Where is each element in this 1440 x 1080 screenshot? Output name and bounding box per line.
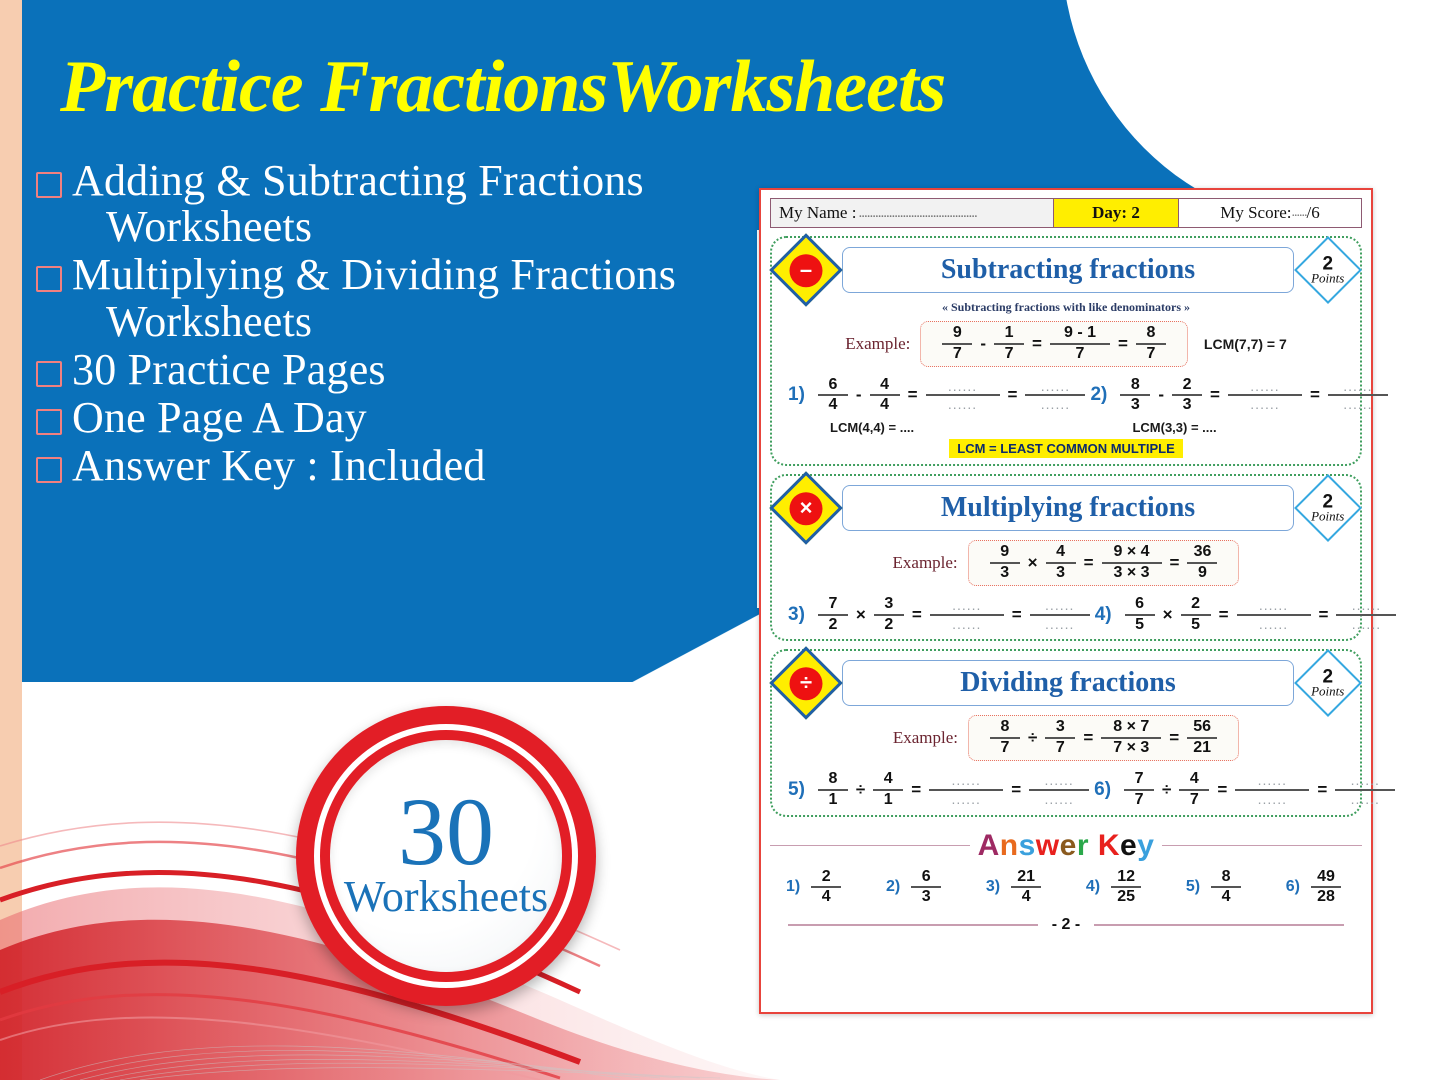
equals-sign: = xyxy=(912,605,922,625)
blank-denominator[interactable]: ...... xyxy=(948,397,977,412)
denominator: 7 × 3 xyxy=(1113,740,1149,757)
denominator: 28 xyxy=(1317,889,1335,906)
answer-blank-fraction: ............ xyxy=(1336,598,1396,631)
fraction: 214 xyxy=(1011,869,1041,907)
answer-key-letter: y xyxy=(1137,829,1154,862)
checkbox-bullet-icon xyxy=(36,457,62,483)
fraction: 97 xyxy=(942,325,972,363)
answer-blank-fraction: ............ xyxy=(1237,598,1311,631)
problem-1[interactable]: 1) 64 - 44 = ............ = ............… xyxy=(788,377,1090,436)
denominator: 4 xyxy=(828,397,837,414)
example-row: Example: 87 ÷ 37 = 8 × 77 × 3 = 5621 xyxy=(774,715,1358,761)
fraction: 81 xyxy=(818,771,848,809)
example-expression: 87 ÷ 37 = 8 × 77 × 3 = 5621 xyxy=(968,715,1239,761)
denominator: 1 xyxy=(884,792,893,809)
score-dotted-line: ...... xyxy=(1292,205,1307,221)
points-badge: 2 Points xyxy=(1294,236,1362,304)
section-header: ÷ Dividing fractions 2 Points xyxy=(774,657,1358,709)
equals-sign: = xyxy=(1169,728,1179,748)
answer-key-item: 2)63 xyxy=(886,869,946,907)
answer-key-item: 3)214 xyxy=(986,869,1046,907)
numerator: 7 xyxy=(1135,771,1144,788)
numerator: 2 xyxy=(1191,596,1200,613)
denominator: 25 xyxy=(1117,889,1135,906)
operator: ÷ xyxy=(1162,780,1171,800)
fraction: 9 - 17 xyxy=(1050,325,1110,363)
denominator: 7 xyxy=(1001,740,1010,757)
answer-key-title-row: Answer Key xyxy=(770,829,1362,863)
denominator: 7 xyxy=(1135,792,1144,809)
problem-row: 5) 81 ÷ 41 = ............ = ............… xyxy=(774,771,1358,809)
problem-lcm-prompt[interactable]: LCM(4,4) = .... xyxy=(830,420,1090,435)
numerator: 7 xyxy=(828,596,837,613)
equals-sign: = xyxy=(1217,780,1227,800)
equals-sign: = xyxy=(1084,553,1094,573)
numerator: 2 xyxy=(822,869,831,886)
worksheet-count-badge: 30 Worksheets xyxy=(296,706,596,1006)
section-subcaption: « Subtracting fractions with like denomi… xyxy=(774,300,1358,315)
points-label: Points xyxy=(1311,510,1344,523)
answer-key-letter: s xyxy=(1019,829,1036,862)
problem-number: 4) xyxy=(1095,604,1112,626)
operator: × xyxy=(1163,605,1173,625)
denominator: 4 xyxy=(1222,889,1231,906)
numerator: 12 xyxy=(1117,869,1135,886)
equals-sign: = xyxy=(1008,385,1018,405)
answer-number: 6) xyxy=(1286,878,1300,896)
list-item: Answer Key : Included xyxy=(36,443,776,489)
list-item: 30 Practice Pages xyxy=(36,347,776,393)
problem-row: 1) 64 - 44 = ............ = ............… xyxy=(774,377,1358,436)
answer-blank-fraction: ............ xyxy=(1025,379,1085,412)
answer-key-letter: K xyxy=(1098,829,1120,862)
example-expression: 93 × 43 = 9 × 43 × 3 = 369 xyxy=(968,540,1240,586)
problem-row: 3) 72 × 32 = ............ = ............… xyxy=(774,596,1358,634)
equals-sign: = xyxy=(1170,553,1180,573)
divide-icon: ÷ xyxy=(769,647,843,721)
blank-numerator[interactable]: ...... xyxy=(1351,773,1380,788)
numerator: 4 xyxy=(1056,544,1065,561)
fraction: 32 xyxy=(874,596,904,634)
checkbox-bullet-icon xyxy=(36,409,62,435)
answer-key-item: 6)4928 xyxy=(1286,869,1346,907)
blank-denominator[interactable]: ...... xyxy=(1250,397,1279,412)
blank-numerator[interactable]: ...... xyxy=(952,598,981,613)
fraction: 8 × 77 × 3 xyxy=(1101,719,1161,757)
fraction: 17 xyxy=(994,325,1024,363)
fraction: 23 xyxy=(1172,377,1202,415)
blank-denominator[interactable]: ...... xyxy=(1259,617,1288,632)
slide-canvas: Practice FractionsWorksheets Adding & Su… xyxy=(0,0,1440,1080)
footer-line-right xyxy=(1094,924,1344,926)
worksheet-preview-card: My Name : ..............................… xyxy=(759,188,1373,1014)
answer-key-item: 5)84 xyxy=(1186,869,1246,907)
worksheet-footer: - 2 - xyxy=(770,916,1362,934)
multiply-glyph: × xyxy=(790,492,823,525)
answer-key-letter: n xyxy=(1000,829,1019,862)
denominator: 3 xyxy=(1000,565,1009,582)
bullet-line-2: Worksheets xyxy=(72,299,676,345)
equals-sign: = xyxy=(1032,334,1042,354)
numerator: 2 xyxy=(1183,377,1192,394)
divider-right xyxy=(1162,845,1362,847)
blank-numerator[interactable]: ...... xyxy=(1250,379,1279,394)
problem-4[interactable]: 4) 65 × 25 = ............ = ............ xyxy=(1095,596,1402,634)
example-label: Example: xyxy=(845,334,910,354)
equals-sign: = xyxy=(1083,728,1093,748)
denominator: 3 xyxy=(1056,565,1065,582)
numerator: 8 xyxy=(1146,325,1155,342)
equals-sign: = xyxy=(1118,334,1128,354)
equals-sign: = xyxy=(1012,605,1022,625)
fraction: 25 xyxy=(1181,596,1211,634)
fraction: 72 xyxy=(818,596,848,634)
numerator: 4 xyxy=(880,377,889,394)
list-item: Multiplying & Dividing Fractions Workshe… xyxy=(36,252,776,344)
problem-number: 5) xyxy=(788,779,805,801)
answer-blank-fraction: ............ xyxy=(1235,773,1309,806)
name-dotted-line: ........................................… xyxy=(858,205,976,222)
fraction: 1225 xyxy=(1111,869,1141,907)
bullet-text: Adding & Subtracting Fractions Worksheet… xyxy=(72,158,644,250)
answer-blank-fraction: ............ xyxy=(1228,379,1302,412)
points-badge: 2 Points xyxy=(1294,649,1362,717)
numerator: 9 - 1 xyxy=(1064,325,1096,342)
bullet-text: 30 Practice Pages xyxy=(72,347,386,393)
numerator: 6 xyxy=(1135,596,1144,613)
problem-6[interactable]: 6) 77 ÷ 47 = ............ = ............ xyxy=(1094,771,1400,809)
answer-key-letter: e xyxy=(1120,829,1137,862)
bullet-line-1: Adding & Subtracting Fractions xyxy=(72,156,644,205)
multiply-icon: × xyxy=(769,471,843,545)
numerator: 3 xyxy=(884,596,893,613)
blank-denominator[interactable]: ...... xyxy=(1045,617,1074,632)
answer-key-block: Answer Key 1)242)633)2144)12255)846)4928… xyxy=(770,829,1362,935)
checkbox-bullet-icon xyxy=(36,266,62,292)
answer-key-letter xyxy=(1089,829,1098,862)
operator: - xyxy=(856,385,862,405)
numerator: 36 xyxy=(1194,544,1212,561)
blank-numerator[interactable]: ...... xyxy=(948,379,977,394)
denominator: 4 xyxy=(822,889,831,906)
example-row: Example: 93 × 43 = 9 × 43 × 3 = 369 xyxy=(774,540,1358,586)
denominator: 5 xyxy=(1135,617,1144,634)
answer-key-list: 1)242)633)2144)12255)846)4928 xyxy=(770,863,1362,907)
numerator: 6 xyxy=(922,869,931,886)
problem-lcm-prompt[interactable]: LCM(3,3) = .... xyxy=(1132,420,1392,435)
bullet-text: Answer Key : Included xyxy=(72,443,486,489)
operator: ÷ xyxy=(856,780,865,800)
example-label: Example: xyxy=(893,553,958,573)
numerator: 8 xyxy=(1131,377,1140,394)
day-badge: Day: 2 xyxy=(1053,199,1179,227)
operator: ÷ xyxy=(1028,728,1037,748)
score-total: /6 xyxy=(1307,203,1320,223)
section-dividing: ÷ Dividing fractions 2 Points Example: 8… xyxy=(770,649,1362,816)
example-expression: 97 - 17 = 9 - 17 = 87 xyxy=(920,321,1188,367)
blank-numerator[interactable]: ...... xyxy=(1044,773,1073,788)
points-badge: 2 Points xyxy=(1294,474,1362,542)
answer-blank-fraction: ............ xyxy=(930,598,1004,631)
answer-blank-fraction: ............ xyxy=(926,379,1000,412)
blank-denominator[interactable]: ...... xyxy=(952,617,981,632)
numerator: 8 xyxy=(1222,869,1231,886)
blank-denominator[interactable]: ...... xyxy=(1343,397,1372,412)
fraction: 87 xyxy=(1136,325,1166,363)
denominator: 7 xyxy=(1076,346,1085,363)
minus-icon: – xyxy=(769,233,843,307)
denominator: 7 xyxy=(953,346,962,363)
denominator: 4 xyxy=(880,397,889,414)
section-title: Subtracting fractions xyxy=(842,247,1294,293)
denominator: 4 xyxy=(1022,889,1031,906)
answer-blank-fraction: ............ xyxy=(929,773,1003,806)
numerator: 4 xyxy=(1190,771,1199,788)
checkbox-bullet-icon xyxy=(36,172,62,198)
blank-denominator[interactable]: ...... xyxy=(1351,792,1380,807)
fraction: 37 xyxy=(1045,719,1075,757)
fraction: 9 × 43 × 3 xyxy=(1102,544,1162,582)
score-label: My Score: xyxy=(1220,203,1291,223)
numerator: 6 xyxy=(828,377,837,394)
answer-blank-fraction: ............ xyxy=(1030,598,1090,631)
fraction: 63 xyxy=(911,869,941,907)
numerator: 9 xyxy=(1000,544,1009,561)
page-title: Practice FractionsWorksheets xyxy=(60,50,1260,124)
fraction: 44 xyxy=(870,377,900,415)
denominator: 21 xyxy=(1193,740,1211,757)
checkbox-bullet-icon xyxy=(36,361,62,387)
equals-sign: = xyxy=(1219,605,1229,625)
fraction: 41 xyxy=(873,771,903,809)
fraction: 65 xyxy=(1125,596,1155,634)
footer-line-left xyxy=(788,924,1038,926)
badge-disc: 30 Worksheets xyxy=(330,740,562,972)
numerator: 9 × 4 xyxy=(1114,544,1150,561)
equals-sign: = xyxy=(1319,605,1329,625)
denominator: 7 xyxy=(1190,792,1199,809)
answer-key-letter: A xyxy=(978,829,1000,862)
denominator: 3 xyxy=(1183,397,1192,414)
denominator: 7 xyxy=(1056,740,1065,757)
score-field[interactable]: My Score:....../6 xyxy=(1179,199,1361,227)
answer-number: 3) xyxy=(986,878,1000,896)
operator: × xyxy=(856,605,866,625)
answer-key-letter: e xyxy=(1060,829,1077,862)
lcm-legend-text: LCM = LEAST COMMON MULTIPLE xyxy=(949,439,1183,458)
answer-blank-fraction: ............ xyxy=(1029,773,1089,806)
name-field[interactable]: My Name : ..............................… xyxy=(771,199,1053,227)
numerator: 9 xyxy=(953,325,962,342)
fraction: 77 xyxy=(1124,771,1154,809)
denominator: 5 xyxy=(1191,617,1200,634)
operator: - xyxy=(980,334,986,354)
equals-sign: = xyxy=(1210,385,1220,405)
blank-denominator[interactable]: ...... xyxy=(1044,792,1073,807)
example-lcm-note: LCM(7,7) = 7 xyxy=(1204,336,1287,352)
bullet-line-2: Worksheets xyxy=(72,204,644,250)
section-title: Multiplying fractions xyxy=(842,485,1294,531)
numerator: 49 xyxy=(1317,869,1335,886)
points-label: Points xyxy=(1311,685,1344,698)
answer-number: 4) xyxy=(1086,878,1100,896)
section-multiplying: × Multiplying fractions 2 Points Example… xyxy=(770,474,1362,641)
section-subtracting: – Subtracting fractions 2 Points « Subtr… xyxy=(770,236,1362,466)
fraction: 64 xyxy=(818,377,848,415)
numerator: 1 xyxy=(1005,325,1014,342)
blank-numerator[interactable]: ...... xyxy=(952,773,981,788)
equals-sign: = xyxy=(1011,780,1021,800)
fraction: 83 xyxy=(1120,377,1150,415)
blank-numerator[interactable]: ...... xyxy=(1259,598,1288,613)
equals-sign: = xyxy=(1310,385,1320,405)
fraction: 5621 xyxy=(1187,719,1217,757)
divider-left xyxy=(770,845,970,847)
bullet-text: One Page A Day xyxy=(72,395,367,441)
name-label: My Name : xyxy=(779,203,856,223)
answer-number: 2) xyxy=(886,878,900,896)
numerator: 21 xyxy=(1017,869,1035,886)
section-title: Dividing fractions xyxy=(842,660,1294,706)
numerator: 3 xyxy=(1056,719,1065,736)
list-item: Adding & Subtracting Fractions Worksheet… xyxy=(36,158,776,250)
fraction: 93 xyxy=(990,544,1020,582)
fraction: 47 xyxy=(1179,771,1209,809)
lcm-legend: LCM = LEAST COMMON MULTIPLE xyxy=(774,439,1358,458)
blank-numerator[interactable]: ...... xyxy=(1343,379,1372,394)
numerator: 8 xyxy=(828,771,837,788)
worksheet-header-bar: My Name : ..............................… xyxy=(770,198,1362,228)
fraction: 87 xyxy=(990,719,1020,757)
answer-key-letter: w xyxy=(1036,829,1060,862)
equals-sign: = xyxy=(1317,780,1327,800)
problem-3[interactable]: 3) 72 × 32 = ............ = ............ xyxy=(788,596,1095,634)
numerator: 4 xyxy=(884,771,893,788)
blank-denominator[interactable]: ...... xyxy=(1258,792,1287,807)
badge-label: Worksheets xyxy=(344,875,548,919)
blank-denominator[interactable]: ...... xyxy=(1352,617,1381,632)
section-header: × Multiplying fractions 2 Points xyxy=(774,482,1358,534)
feature-bullet-list: Adding & Subtracting Fractions Worksheet… xyxy=(36,158,776,491)
badge-number: 30 xyxy=(398,787,494,877)
problem-5[interactable]: 5) 81 ÷ 41 = ............ = ............ xyxy=(788,771,1094,809)
blank-numerator[interactable]: ...... xyxy=(1045,598,1074,613)
example-label: Example: xyxy=(893,728,958,748)
bullet-line-1: Multiplying & Dividing Fractions xyxy=(72,250,676,299)
denominator: 2 xyxy=(828,617,837,634)
answer-key-item: 1)24 xyxy=(786,869,846,907)
problem-2[interactable]: 2) 83 - 23 = ............ = ............… xyxy=(1090,377,1392,436)
problem-number: 3) xyxy=(788,604,805,626)
fraction: 84 xyxy=(1211,869,1241,907)
answer-blank-fraction: ............ xyxy=(1328,379,1388,412)
numerator: 8 xyxy=(1001,719,1010,736)
numerator: 8 × 7 xyxy=(1113,719,1149,736)
numerator: 56 xyxy=(1193,719,1211,736)
fraction: 43 xyxy=(1046,544,1076,582)
minus-glyph: – xyxy=(790,254,823,287)
equals-sign: = xyxy=(908,385,918,405)
problem-number: 2) xyxy=(1090,384,1107,406)
denominator: 1 xyxy=(828,792,837,809)
blank-denominator[interactable]: ...... xyxy=(1041,397,1070,412)
operator: × xyxy=(1028,553,1038,573)
blank-numerator[interactable]: ...... xyxy=(1258,773,1287,788)
problem-number: 1) xyxy=(788,384,805,406)
bullet-text: Multiplying & Dividing Fractions Workshe… xyxy=(72,252,676,344)
answer-key-letter: r xyxy=(1077,829,1089,862)
fraction: 24 xyxy=(811,869,841,907)
denominator: 3 xyxy=(1131,397,1140,414)
answer-blank-fraction: ............ xyxy=(1335,773,1395,806)
example-row: Example: 97 - 17 = 9 - 17 = 87 LCM(7,7) … xyxy=(774,321,1358,367)
denominator: 7 xyxy=(1005,346,1014,363)
points-label: Points xyxy=(1311,272,1344,285)
denominator: 9 xyxy=(1198,565,1207,582)
section-header: – Subtracting fractions 2 Points xyxy=(774,244,1358,296)
operator: - xyxy=(1158,385,1164,405)
answer-key-item: 4)1225 xyxy=(1086,869,1146,907)
blank-denominator[interactable]: ...... xyxy=(952,792,981,807)
divide-glyph: ÷ xyxy=(790,667,823,700)
denominator: 3 xyxy=(922,889,931,906)
denominator: 2 xyxy=(884,617,893,634)
answer-key-title: Answer Key xyxy=(978,829,1155,863)
denominator: 3 × 3 xyxy=(1114,565,1150,582)
list-item: One Page A Day xyxy=(36,395,776,441)
blank-numerator[interactable]: ...... xyxy=(1352,598,1381,613)
answer-number: 1) xyxy=(786,878,800,896)
blank-numerator[interactable]: ...... xyxy=(1041,379,1070,394)
fraction: 369 xyxy=(1187,544,1217,582)
answer-number: 5) xyxy=(1186,878,1200,896)
equals-sign: = xyxy=(911,780,921,800)
fraction: 4928 xyxy=(1311,869,1341,907)
denominator: 7 xyxy=(1146,346,1155,363)
page-number: - 2 - xyxy=(1052,916,1080,934)
problem-number: 6) xyxy=(1094,779,1111,801)
